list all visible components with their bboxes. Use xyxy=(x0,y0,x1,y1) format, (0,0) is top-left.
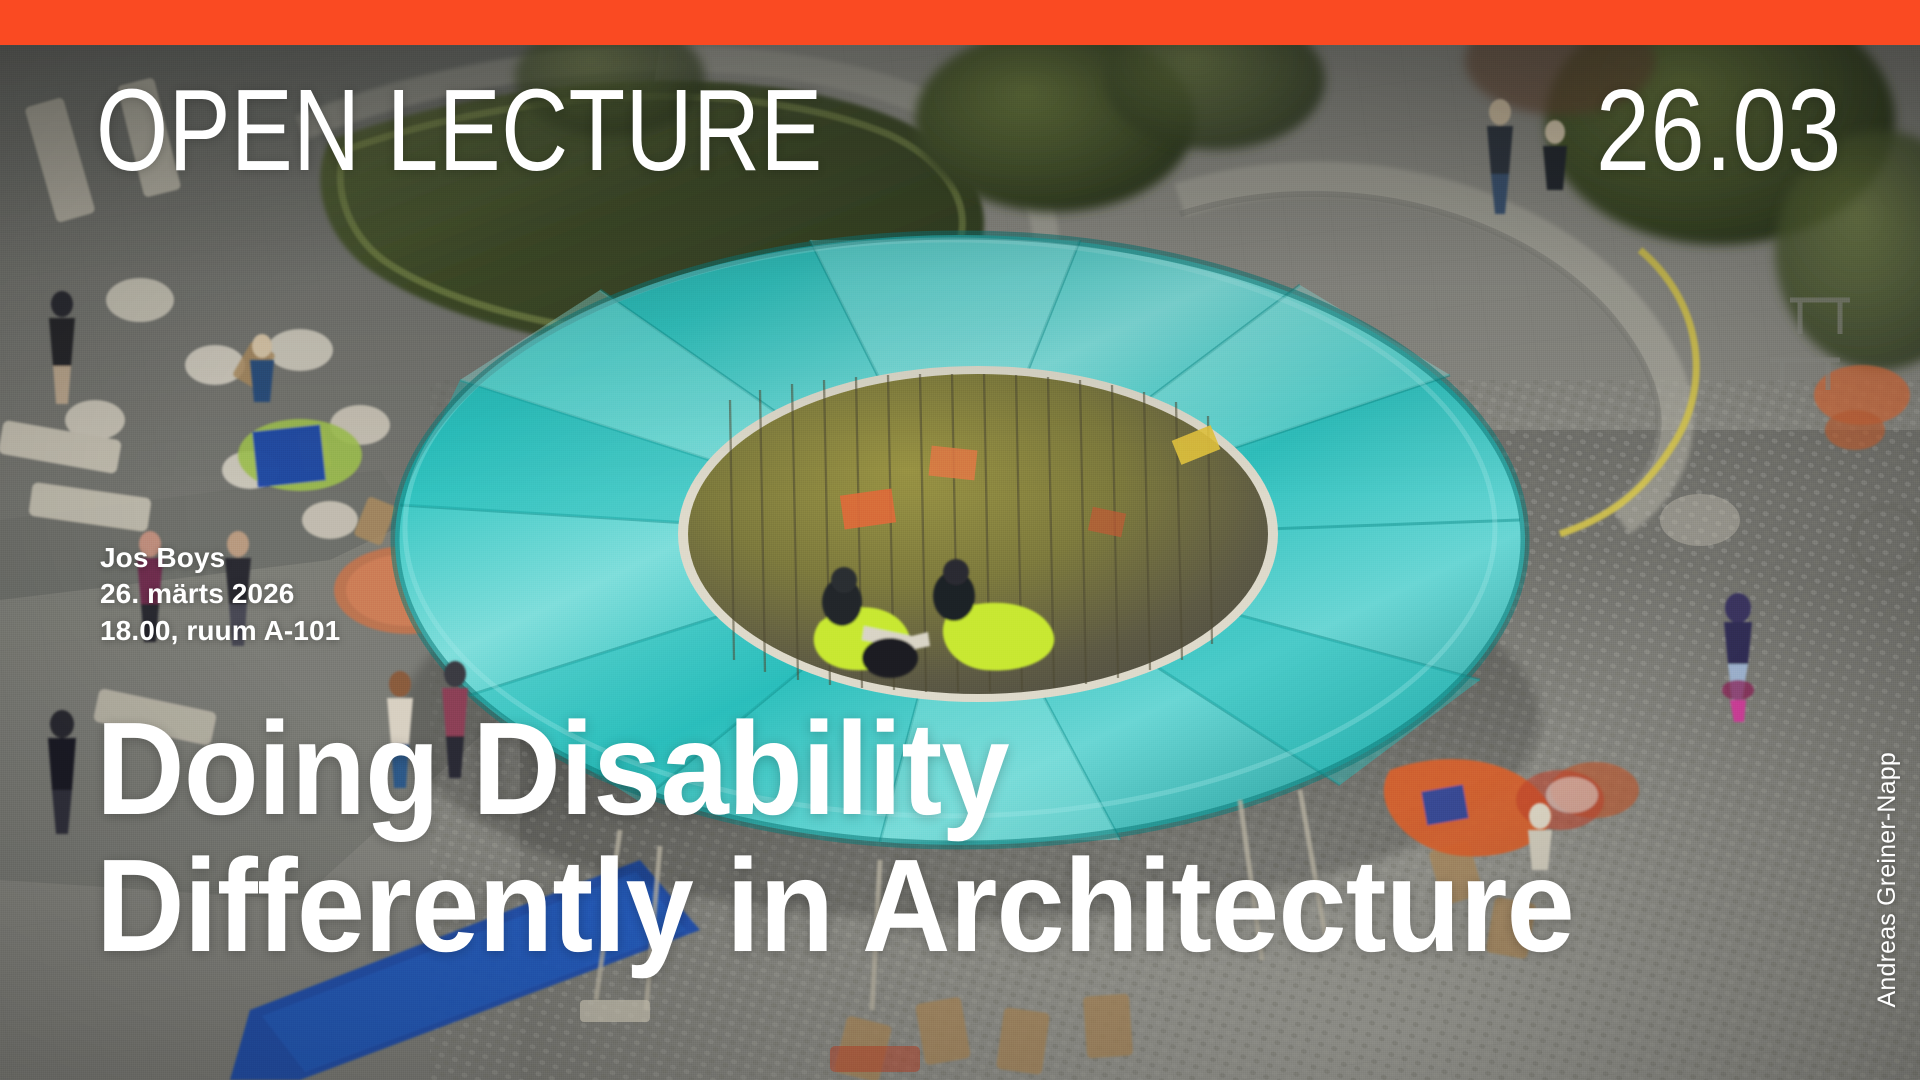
event-date: 26. märts 2026 xyxy=(100,576,340,612)
event-details: Jos Boys 26. märts 2026 18.00, ruum A-10… xyxy=(100,540,340,649)
lecture-title: Doing Disability Differently in Architec… xyxy=(96,700,1685,975)
date-large: 26.03 xyxy=(1596,72,1842,188)
lecture-title-line-1: Doing Disability xyxy=(96,700,1574,837)
speaker-name: Jos Boys xyxy=(100,540,340,576)
event-time-room: 18.00, ruum A-101 xyxy=(100,613,340,649)
accent-bar xyxy=(0,0,1920,45)
poster-canvas: OPEN LECTURE 26.03 Jos Boys 26. märts 20… xyxy=(0,0,1920,1080)
lecture-title-line-2: Differently in Architecture xyxy=(96,837,1574,974)
kicker-open-lecture: OPEN LECTURE xyxy=(96,72,823,188)
photo-credit: Andreas Greiner-Napp xyxy=(1873,752,1902,1008)
